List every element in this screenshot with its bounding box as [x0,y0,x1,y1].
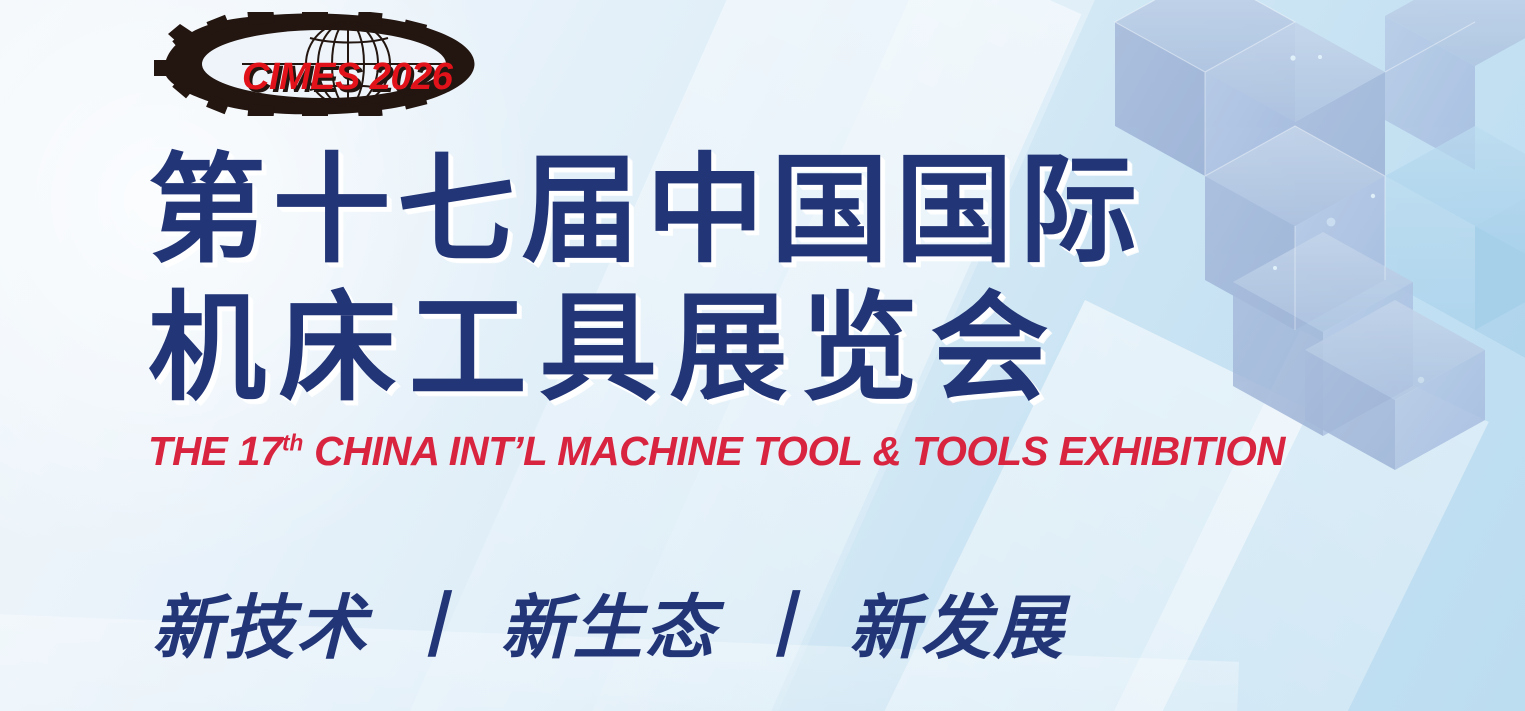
banner-content: CIMES 2026 CIMES 2026 第十七届中国国际 机床工具展览会 T… [148,0,1268,711]
subtitle-prefix: THE 17 [148,428,282,474]
tagline-item-3: 新发展 [847,572,1067,673]
tagline-item-2: 新生态 [498,572,718,673]
title-line-1: 第十七届中国国际 [148,140,1228,284]
logo-wordmark: CIMES 2026 CIMES 2026 [242,56,457,101]
headline-block: 第十七届中国国际 机床工具展览会 THE 17th CHINA INT’L MA… [148,140,1228,475]
tagline-separator-2: 丨 [719,570,847,671]
logo-wordmark-text: CIMES 2026 [242,56,454,98]
cimes-2026-banner: CIMES 2026 CIMES 2026 第十七届中国国际 机床工具展览会 T… [0,0,1525,711]
tagline-block: 新技术 丨 新生态 丨 新发展 [150,572,1067,673]
subtitle-ordinal: th [282,429,303,455]
tagline-item-1: 新技术 [150,572,370,673]
subtitle-rest: CHINA INT’L MACHINE TOOL & TOOLS EXHIBIT… [303,428,1285,474]
title-line-2: 机床工具展览会 [148,278,1228,422]
cimes-logo[interactable]: CIMES 2026 CIMES 2026 [152,12,492,116]
subtitle-english: THE 17th CHINA INT’L MACHINE TOOL & TOOL… [148,428,1212,475]
tagline-separator-1: 丨 [370,570,498,671]
